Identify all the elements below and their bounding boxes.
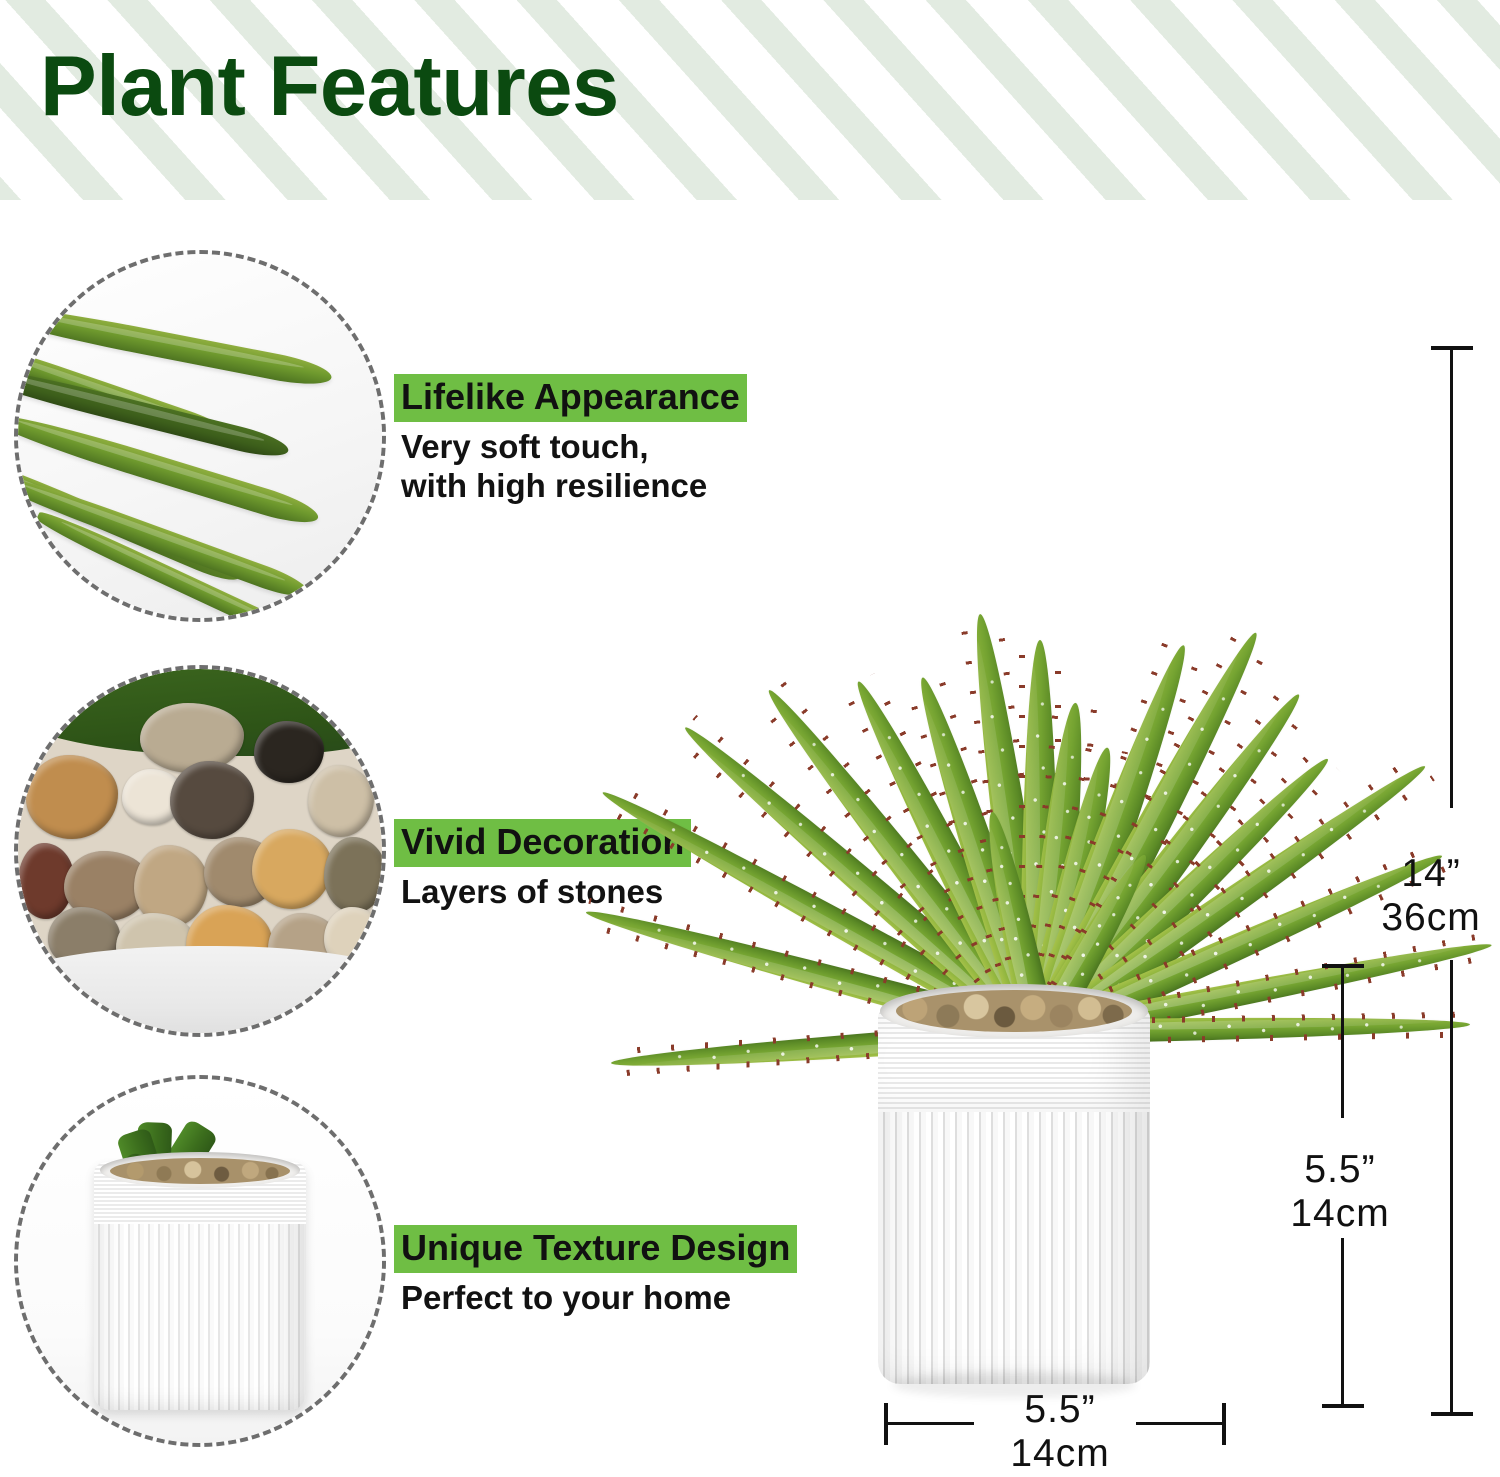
dimension-pot-height-label: 5.5” 14cm bbox=[1260, 1148, 1420, 1235]
gravel-layer bbox=[896, 990, 1132, 1032]
product-photo bbox=[500, 230, 1500, 1477]
dimension-pot-width-label: 5.5” 14cm bbox=[980, 1388, 1140, 1475]
feature-image-ribbed-white-pot-closeup bbox=[14, 1075, 386, 1447]
page-title: Plant Features bbox=[40, 44, 619, 129]
feature-image-aloe-leaves-closeup bbox=[14, 250, 386, 622]
aloe-plant bbox=[500, 230, 1500, 1050]
feature-image-stones-closeup bbox=[14, 665, 386, 1037]
dimension-total-height-label: 14” 36cm bbox=[1366, 852, 1496, 939]
white-ribbed-pot bbox=[878, 982, 1150, 1400]
header-banner: Plant Features bbox=[0, 0, 1500, 200]
